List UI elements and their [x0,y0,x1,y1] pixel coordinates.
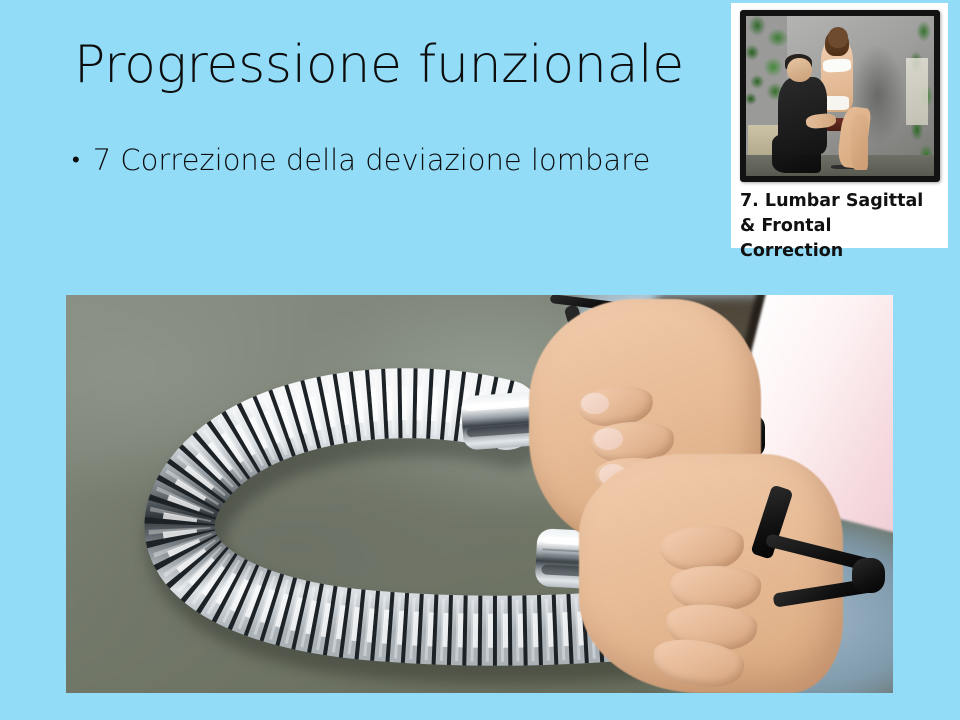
figure-photo-frame [740,10,940,182]
power-twister-photo [66,295,893,693]
list-item: • 7 Correzione della deviazione lombare [72,142,712,180]
lumbar-correction-photo [746,16,934,176]
list-item-label: 7 Correzione della deviazione lombare [93,142,651,180]
bullet-marker-icon: • [72,150,80,172]
lower-strap-buckle [852,558,885,594]
upper-nail-2 [594,428,622,450]
top-edge-band [0,0,960,3]
bottom-edge-band [0,693,960,720]
lower-finger-2 [669,565,761,610]
patient-head [828,27,848,48]
shelf [906,58,929,125]
patient-leg-far [851,115,868,169]
therapist-head [787,58,811,82]
page-title: Progressione funzionale [74,36,684,94]
bullet-list: • 7 Correzione della deviazione lombare [72,142,712,180]
patient-bra [823,58,852,72]
slide-canvas: Progressione funzionale • 7 Correzione d… [0,0,960,720]
figure-card: 7. Lumbar Sagittal & Frontal Correction [731,3,948,248]
figure-caption: 7. Lumbar Sagittal & Frontal Correction [740,189,940,264]
